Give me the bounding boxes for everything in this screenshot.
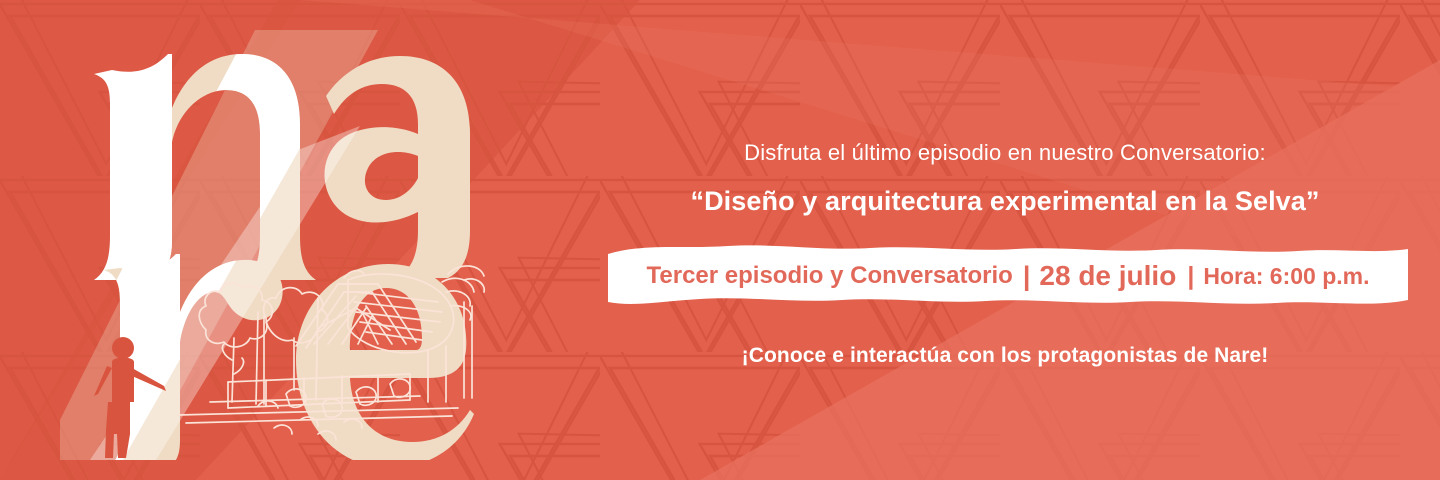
nare-logo — [60, 30, 490, 460]
details-strip-text: Tercer episodio y Conversatorio | 28 de … — [608, 240, 1408, 312]
nare-logo-artwork — [60, 30, 490, 460]
strip-separator-1: | — [1013, 261, 1040, 292]
cta-line: ¡Conoce e interactúa con los protagonist… — [600, 344, 1410, 368]
episode-title: “Diseño y arquitectura experimental en l… — [600, 186, 1410, 217]
content-column: Disfruta el último episodio en nuestro C… — [600, 0, 1430, 480]
letter-a — [325, 56, 470, 278]
strip-date-label: 28 de julio — [1039, 260, 1176, 292]
strip-episode-label: Tercer episodio y Conversatorio — [647, 262, 1013, 290]
details-strip: Tercer episodio y Conversatorio | 28 de … — [608, 240, 1408, 312]
intro-line: Disfruta el último episodio en nuestro C… — [600, 140, 1410, 166]
strip-hour-label: Hora: 6:00 p.m. — [1203, 263, 1369, 290]
promo-banner: Disfruta el último episodio en nuestro C… — [0, 0, 1440, 480]
strip-separator-2: | — [1176, 262, 1203, 291]
